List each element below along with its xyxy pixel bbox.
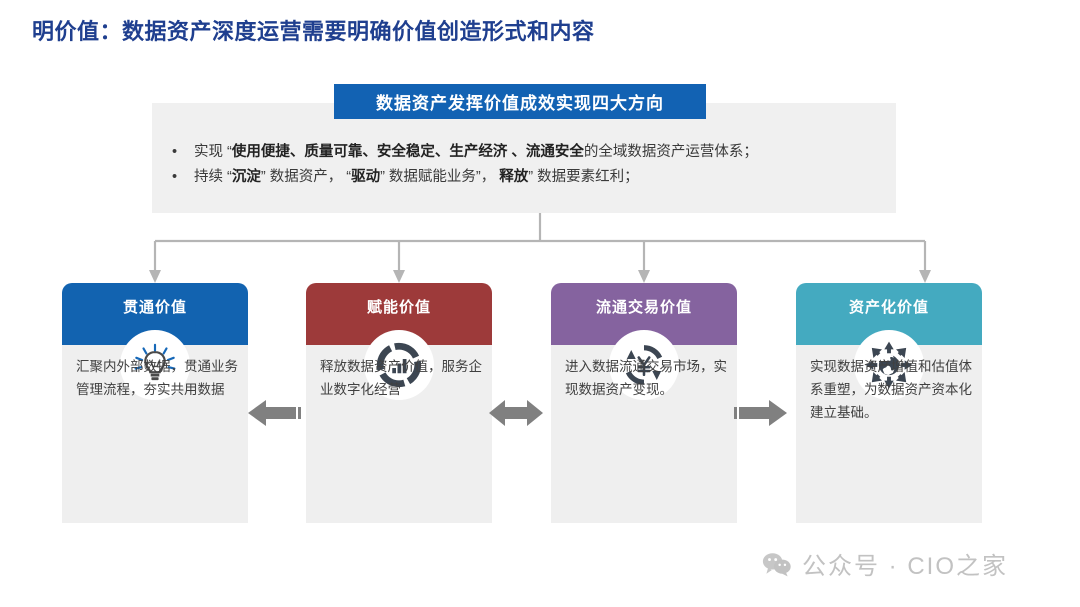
value-card-guantong[interactable]: 汇聚内外部数据，贯通业务管理流程，夯实共用数据 贯通价值 xyxy=(62,283,248,523)
card-body-text: 实现数据资产增值和估值体系重塑，为数据资产资本化建立基础。 xyxy=(810,355,972,424)
value-card-funeng[interactable]: 释放数据资产价值，服务企业数字化经营 赋能价值 xyxy=(306,283,492,523)
slide-canvas: 明价值：数据资产深度运营需要明确价值创造形式和内容 数据资产发挥价值成效实现四大… xyxy=(0,0,1080,607)
card-title: 贯通价值 xyxy=(62,296,248,317)
arrow-left-right-icon xyxy=(487,396,545,430)
arrow-right-icon xyxy=(733,396,789,430)
card-body-text: 汇聚内外部数据，贯通业务管理流程，夯实共用数据 xyxy=(76,355,238,401)
page-title: 明价值：数据资产深度运营需要明确价值创造形式和内容 xyxy=(32,14,595,46)
bullet-marker: • xyxy=(172,140,194,165)
list-item: • 持续 “沉淀” 数据资产， “驱动” 数据赋能业务”， 释放” 数据要素红利… xyxy=(172,165,886,190)
card-title: 流通交易价值 xyxy=(551,296,737,317)
bullet-text: 持续 “沉淀” 数据资产， “驱动” 数据赋能业务”， 释放” 数据要素红利； xyxy=(194,165,639,190)
value-card-zichanhua[interactable]: 实现数据资产增值和估值体系重塑，为数据资产资本化建立基础。 资产化价值 xyxy=(796,283,982,523)
card-body-text: 进入数据流通交易市场，实现数据资产变现。 xyxy=(565,355,727,401)
connector-tree xyxy=(0,213,1080,288)
connector-arrow-card-1 xyxy=(149,270,161,283)
value-card-liutong[interactable]: 进入数据流通交易市场，实现数据资产变现。 流通交易价值 xyxy=(551,283,737,523)
bullet-text: 实现 “使用便捷、质量可靠、安全稳定、生产经济 、流通安全的全域数据资产运营体系… xyxy=(194,140,758,165)
arrow-left-icon xyxy=(246,396,302,430)
card-body-text: 释放数据资产价值，服务企业数字化经营 xyxy=(320,355,482,401)
card-title: 资产化价值 xyxy=(796,296,982,317)
connector-arrow-card-3 xyxy=(638,270,650,283)
connector-arrowheads xyxy=(149,270,931,283)
wechat-icon xyxy=(762,551,792,577)
card-title: 赋能价值 xyxy=(306,296,492,317)
connector-arrow-card-4 xyxy=(919,270,931,283)
bullet-list: • 实现 “使用便捷、质量可靠、安全稳定、生产经济 、流通安全的全域数据资产运营… xyxy=(172,140,886,190)
section-banner: 数据资产发挥价值成效实现四大方向 xyxy=(334,84,706,119)
section-banner-label: 数据资产发挥价值成效实现四大方向 xyxy=(376,89,664,114)
watermark: 公众号 · CIO之家 xyxy=(762,546,1008,581)
bullet-marker: • xyxy=(172,165,194,190)
list-item: • 实现 “使用便捷、质量可靠、安全稳定、生产经济 、流通安全的全域数据资产运营… xyxy=(172,140,886,165)
connector-arrow-card-2 xyxy=(393,270,405,283)
watermark-text: 公众号 · CIO之家 xyxy=(802,546,1008,581)
